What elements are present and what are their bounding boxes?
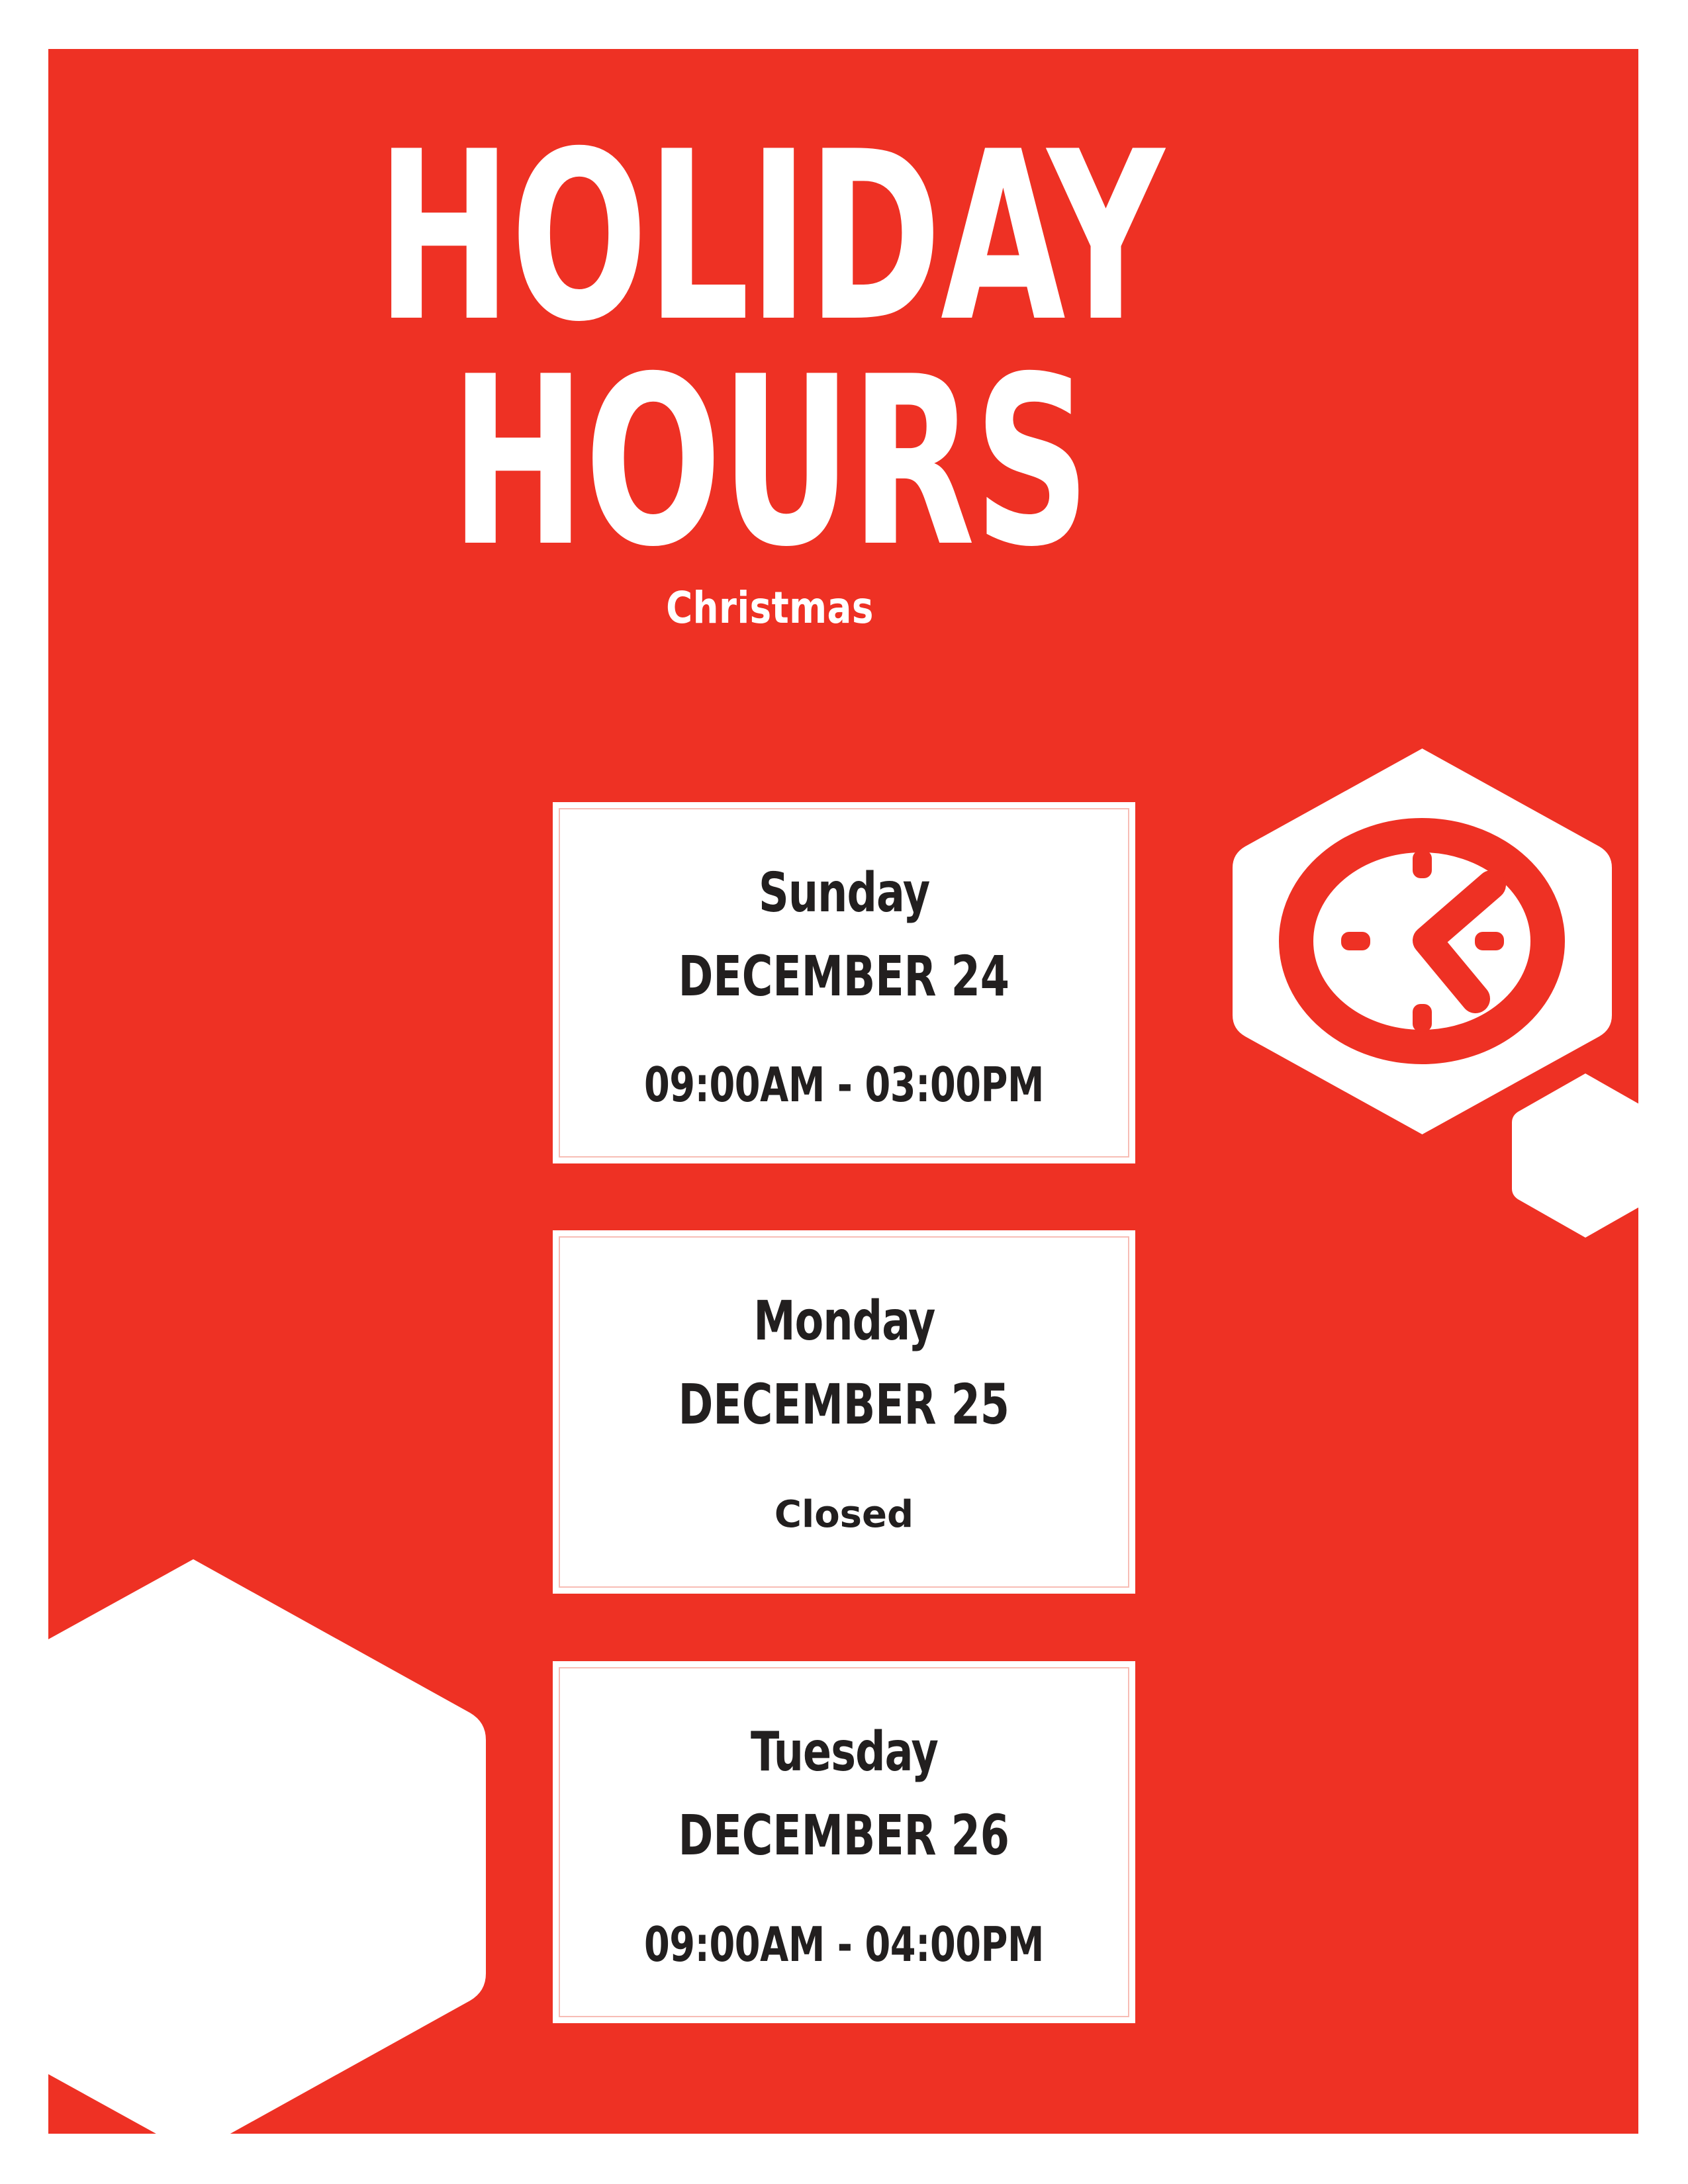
title-line-holiday: HOLIDAY [214, 126, 1326, 351]
schedule-day-name: Monday [753, 1295, 935, 1349]
hexagon-accent-small [1509, 1071, 1662, 1240]
poster-canvas: HOLIDAY HOURS Christmas Sunday DECEMBER [0, 0, 1688, 2184]
schedule-day-date: DECEMBER 25 [679, 1377, 1009, 1432]
schedule-day-date: DECEMBER 24 [679, 948, 1009, 1004]
schedule-day-date: DECEMBER 26 [679, 1807, 1009, 1863]
clock-tick-3 [1475, 932, 1504, 950]
title-line-hours: HOURS [214, 351, 1326, 576]
schedule-card-inner: Sunday DECEMBER 24 09:00AM - 03:00PM [559, 808, 1129, 1158]
schedule-day-name: Sunday [759, 866, 929, 921]
schedule-card-inner: Monday DECEMBER 25 Closed [559, 1236, 1129, 1588]
schedule-day-name: Tuesday [751, 1725, 938, 1780]
schedule-card: Sunday DECEMBER 24 09:00AM - 03:00PM [553, 802, 1135, 1163]
hexagon-shape [0, 1559, 486, 2139]
schedule-day-hours: 09:00AM - 03:00PM [600, 1061, 1088, 1109]
clock-tick-9 [1341, 932, 1370, 950]
page-subtitle: Christmas [106, 582, 1434, 633]
schedule-card: Tuesday DECEMBER 26 09:00AM - 04:00PM [553, 1661, 1135, 2023]
schedule-card: Monday DECEMBER 25 Closed [553, 1230, 1135, 1594]
clock-tick-12 [1413, 850, 1432, 878]
hexagon-accent-large [0, 1543, 498, 2139]
schedule-day-hours: 09:00AM - 04:00PM [600, 1921, 1088, 1968]
page-title: HOLIDAY HOURS [48, 126, 1491, 575]
schedule-card-inner: Tuesday DECEMBER 26 09:00AM - 04:00PM [559, 1667, 1129, 2017]
clock-tick-6 [1413, 1004, 1432, 1032]
schedule-day-hours: Closed [560, 1496, 1128, 1533]
hexagon-shape [1512, 1073, 1659, 1238]
